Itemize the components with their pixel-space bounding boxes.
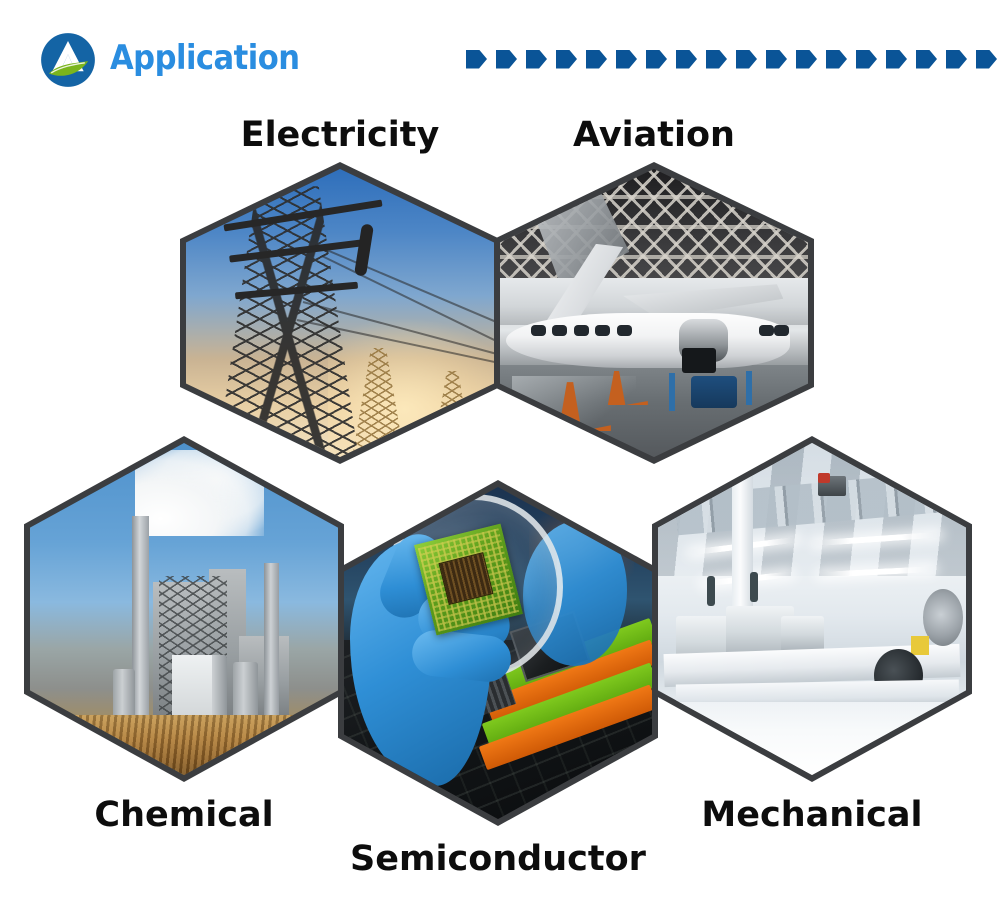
brand-title: Application: [110, 36, 300, 80]
arrow-chip-icon: [766, 50, 787, 69]
gallery-label-mechanical: Mechanical: [652, 794, 972, 836]
artwork-hangar-jet: [500, 169, 808, 457]
gallery-label-semiconductor: Semiconductor: [338, 838, 658, 880]
thread-spool: [750, 572, 758, 602]
artwork-chemical-plant: [30, 443, 338, 775]
mountain-leaf-logo-icon: [40, 32, 96, 88]
hexagon-image-electricity: [186, 169, 494, 457]
arrow-chip-icon: [856, 50, 877, 69]
arrow-chip-icon: [496, 50, 517, 69]
arrow-chip-icon: [646, 50, 667, 69]
lumber-texture: [30, 715, 338, 775]
arrow-chip-icon: [676, 50, 697, 69]
arrow-chip-icon: [826, 50, 847, 69]
hexagon-frame: [338, 480, 658, 826]
page-header: Application: [0, 0, 998, 104]
hexagon-image-semiconductor: [344, 487, 652, 819]
hexagon-frame: [180, 162, 500, 464]
gallery-item-mechanical[interactable]: Mechanical: [652, 436, 972, 836]
arrow-chip-icon: [736, 50, 757, 69]
application-hex-gallery: Electricity: [0, 104, 998, 909]
smoke-plume: [135, 450, 264, 536]
cabin-window: [595, 325, 610, 336]
arrow-decoration-strip: [466, 48, 966, 70]
gallery-item-semiconductor[interactable]: Semiconductor: [338, 480, 658, 880]
cabin-window: [531, 325, 546, 336]
arrow-chip-icon: [946, 50, 967, 69]
gallery-item-electricity[interactable]: Electricity: [180, 114, 500, 464]
yellow-control-box: [911, 636, 929, 656]
secondary-stack: [264, 563, 279, 722]
thread-spool: [707, 576, 715, 606]
hexagon-image-chemical: [30, 443, 338, 775]
arrow-chip-icon: [886, 50, 907, 69]
arrow-chip-icon: [526, 50, 547, 69]
hexagon-image-aviation: [500, 169, 808, 457]
industrial-machine: [781, 616, 824, 653]
aircraft-fuselage: [506, 313, 789, 368]
arrow-chip-icon: [916, 50, 937, 69]
arrow-chip-icon: [706, 50, 727, 69]
gallery-item-aviation[interactable]: Aviation: [494, 114, 814, 464]
cabin-window: [552, 325, 567, 336]
hexagon-frame: [24, 436, 344, 782]
arrow-chip-icon: [976, 50, 997, 69]
artwork-chip-inspection: [344, 487, 652, 819]
artwork-factory-floor: [658, 443, 966, 775]
cabin-window: [574, 325, 589, 336]
artwork-power-towers: [186, 169, 494, 457]
arrow-chip-icon: [616, 50, 637, 69]
cabin-window: [759, 325, 774, 336]
application-page: Application Electricity: [0, 0, 998, 909]
factory-floor-surface: [658, 702, 966, 775]
arrow-chip-icon: [586, 50, 607, 69]
plant-building: [172, 655, 212, 715]
gallery-label-electricity: Electricity: [180, 114, 500, 156]
hexagon-frame: [652, 436, 972, 782]
cabin-window: [617, 325, 632, 336]
arrow-chip-icon: [556, 50, 577, 69]
hexagon-frame: [494, 162, 814, 464]
aircraft-jack: [746, 371, 752, 406]
gallery-label-aviation: Aviation: [494, 114, 814, 156]
gallery-item-chemical[interactable]: Chemical: [24, 436, 344, 836]
cabin-window: [774, 325, 789, 336]
aircraft-jack: [669, 373, 675, 410]
ground-support-cart: [691, 376, 737, 408]
hoist-indicator: [818, 473, 830, 483]
arrow-chip-icon: [466, 50, 487, 69]
arrow-chip-icon: [796, 50, 817, 69]
gallery-label-chemical: Chemical: [24, 794, 344, 836]
engine-open-cowling: [682, 348, 716, 374]
hexagon-image-mechanical: [658, 443, 966, 775]
